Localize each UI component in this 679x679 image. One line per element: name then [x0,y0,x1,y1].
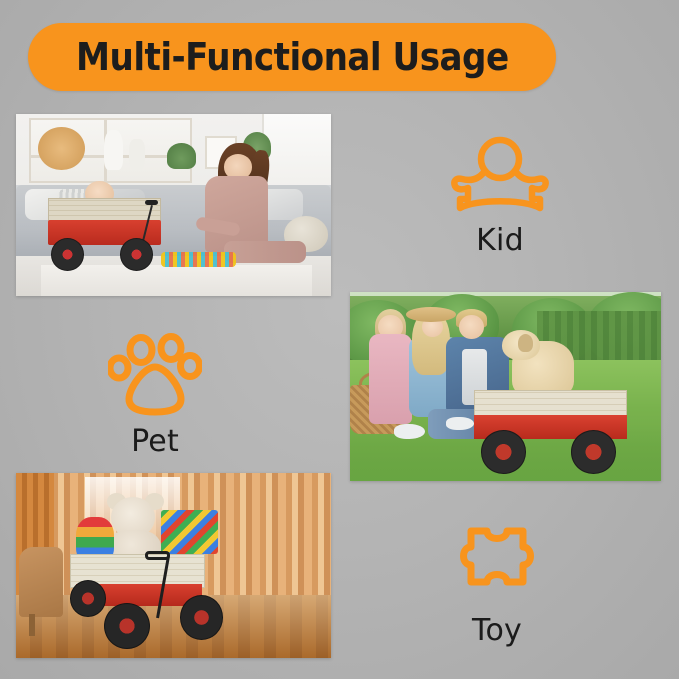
wagon-wood-rail [48,198,161,222]
wagon-wood-rail [474,390,626,416]
baby-child-icon [448,136,552,216]
father-head [459,315,484,340]
feature-kid: Kid [435,136,565,256]
puzzle-piece-icon [446,524,548,606]
wagon-wheel [180,595,223,640]
mother-legs [224,241,306,263]
armchair-leg [29,614,35,636]
toy-xylophone [161,252,237,267]
building-blocks-toy [161,510,218,554]
plant-decor [167,143,195,168]
armchair [19,547,63,617]
vase-decor [104,130,123,170]
wagon-handle-grip [145,200,158,205]
photo-kid-scene: Baby sitting in red and wood wagon while… [16,114,331,296]
vase-decor [129,139,145,170]
wagon-wheel [51,238,85,271]
photo-pet-scene: Family outdoors on grass with golden ret… [350,292,661,481]
wagon-handle-grip [145,551,170,560]
page-title: Multi-Functional Usage [76,38,509,76]
wagon-wheel [120,238,154,271]
paw-print-icon [108,333,202,417]
girl-dress [369,334,413,425]
wagon-wheel [481,430,527,474]
feature-label-toy: Toy [472,616,522,646]
title-banner: Multi-Functional Usage [28,23,556,91]
feature-toy: Toy [432,524,562,646]
rug [41,265,312,296]
wagon-wheel [104,603,150,649]
feature-label-kid: Kid [476,226,524,256]
infographic-page: Multi-Functional Usage [0,0,679,679]
feature-label-pet: Pet [131,427,179,457]
shoe [446,417,474,430]
photo-toy-scene: Red and wood wagon loaded with teddy bea… [16,473,331,658]
feature-pet: Pet [90,333,220,457]
straw-hat [406,307,456,322]
dog-ear [518,334,534,353]
wagon-wheel [571,430,617,474]
